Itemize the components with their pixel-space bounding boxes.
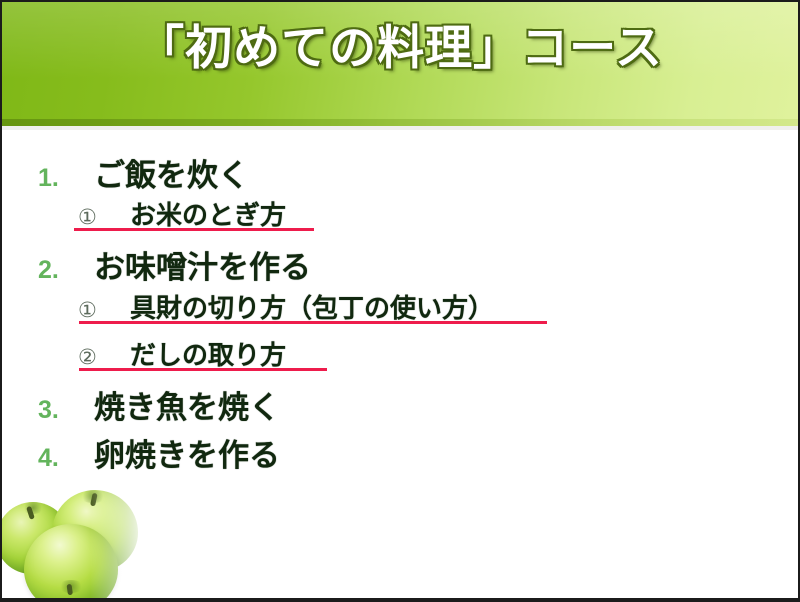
- outline-item: 4.卵焼きを作る: [38, 430, 280, 475]
- outline-item: ①お米のとぎ方: [78, 195, 286, 232]
- outline-item-label: だしの取り方: [130, 335, 286, 372]
- list-number-marker: 2.: [38, 256, 94, 285]
- list-number-marker: 3.: [38, 396, 94, 425]
- list-circled-marker: ①: [78, 298, 130, 323]
- outline-item-label: お味噌汁を作る: [94, 242, 311, 287]
- outline-item: ①具財の切り方（包丁の使い方）: [78, 288, 494, 325]
- green-apples-photo: [2, 480, 154, 600]
- outline-item-label: 卵焼きを作る: [94, 430, 280, 475]
- slide-body: 1.ご飯を炊く①お米のとぎ方2.お味噌汁を作る①具財の切り方（包丁の使い方）②だ…: [2, 130, 800, 600]
- outline-item-label: 焼き魚を焼く: [94, 382, 280, 427]
- outline-item-label: お米のとぎ方: [130, 195, 286, 232]
- outline-item: 3.焼き魚を焼く: [38, 382, 280, 427]
- list-circled-marker: ②: [78, 345, 130, 370]
- presentation-slide: 「初めての料理」コース 1.ご飯を炊く①お米のとぎ方2.お味噌汁を作る①具財の切…: [0, 0, 800, 602]
- outline-item: 2.お味噌汁を作る: [38, 242, 311, 287]
- page-title: 「初めての料理」コース: [2, 24, 798, 71]
- red-underline: [74, 228, 314, 231]
- red-underline: [79, 321, 547, 324]
- list-number-marker: 4.: [38, 444, 94, 473]
- outline-item: 1.ご飯を炊く: [38, 150, 249, 195]
- outline-item-label: 具財の切り方（包丁の使い方）: [130, 288, 494, 325]
- outline-item-label: ご飯を炊く: [94, 150, 249, 195]
- outline-item: ②だしの取り方: [78, 335, 286, 372]
- list-circled-marker: ①: [78, 205, 130, 230]
- red-underline: [79, 368, 327, 371]
- list-number-marker: 1.: [38, 164, 94, 193]
